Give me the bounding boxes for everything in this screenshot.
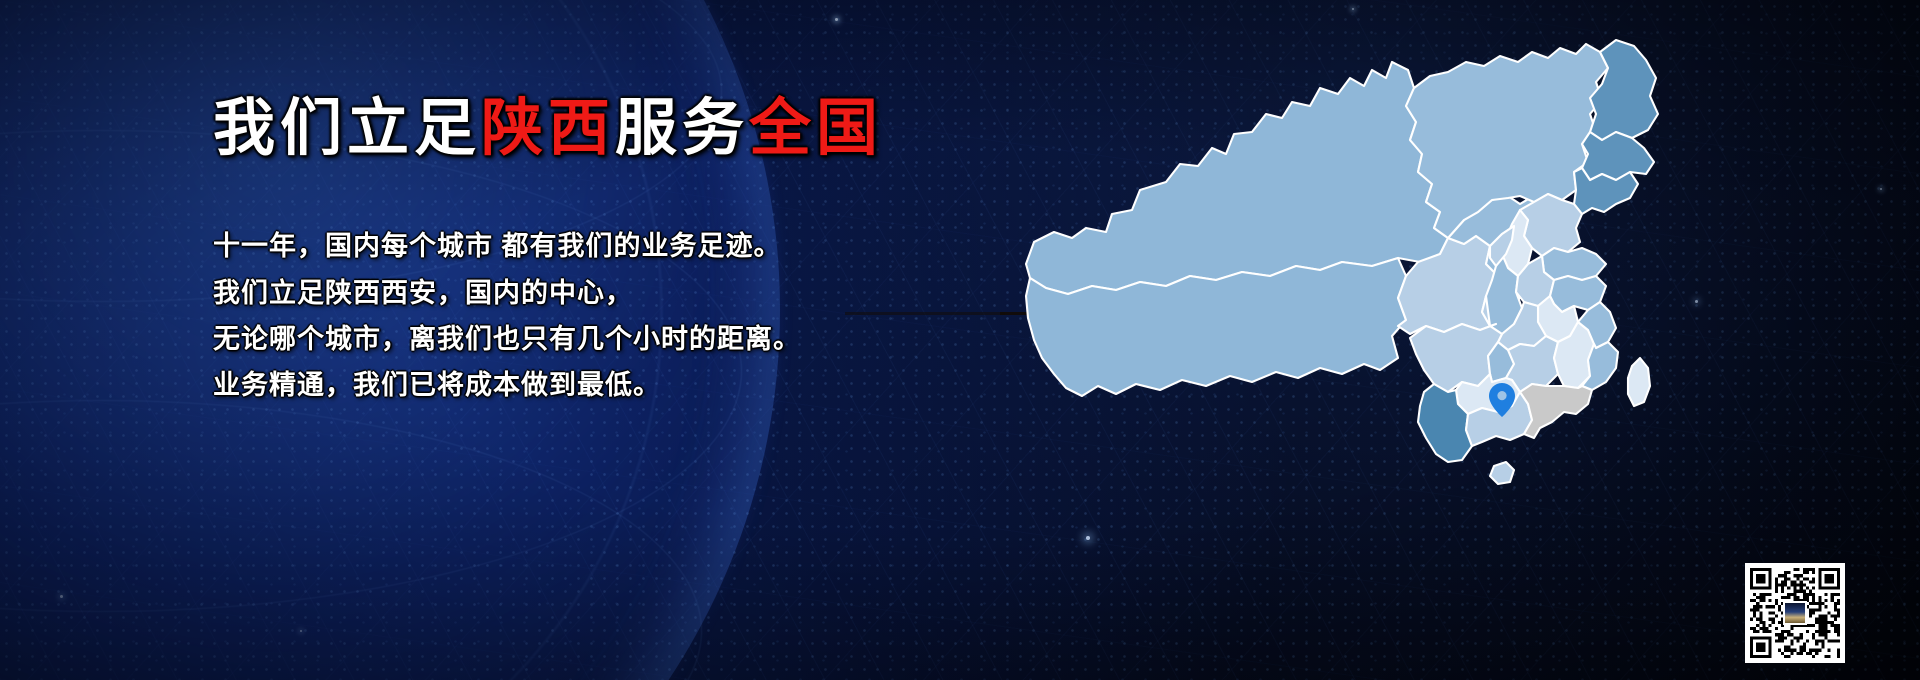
- headline-segment-1: 我们立足: [213, 94, 481, 163]
- horizontal-rule-faint: [845, 312, 1005, 315]
- body-line: 无论哪个城市，离我们也只有几个小时的距离。: [213, 316, 1043, 362]
- province-jilin[interactable]: [1582, 132, 1654, 180]
- body-line: 我们立足陕西西安，国内的中心，: [213, 270, 1043, 316]
- copy-block: 我们立足陕西服务全国 十一年，国内每个城市 都有我们的业务足迹。 我们立足陕西西…: [213, 96, 1043, 409]
- body-line: 十一年，国内每个城市 都有我们的业务足迹。: [213, 223, 1043, 269]
- page-title: 我们立足陕西服务全国: [213, 96, 1043, 161]
- china-map[interactable]: [1020, 14, 1660, 674]
- headline-segment-2-accent: 陕西: [481, 94, 615, 163]
- wechat-qr-code[interactable]: [1745, 563, 1845, 663]
- qr-center-logo: [1783, 601, 1807, 625]
- headline-segment-4-accent: 全国: [749, 94, 883, 163]
- province-xinjiang[interactable]: [1026, 62, 1448, 294]
- location-pin[interactable]: [1489, 383, 1515, 417]
- body-copy: 十一年，国内每个城市 都有我们的业务足迹。 我们立足陕西西安，国内的中心， 无论…: [213, 223, 1043, 409]
- headline-segment-3: 服务: [615, 94, 749, 163]
- banner-root: 我们立足陕西服务全国 十一年，国内每个城市 都有我们的业务足迹。 我们立足陕西西…: [0, 0, 1920, 680]
- province-taiwan[interactable]: [1628, 358, 1650, 406]
- province-guangdong[interactable]: [1520, 384, 1592, 438]
- province-hainan[interactable]: [1490, 462, 1514, 484]
- body-line: 业务精通，我们已将成本做到最低。: [213, 362, 1043, 408]
- province-liaoning[interactable]: [1574, 168, 1638, 214]
